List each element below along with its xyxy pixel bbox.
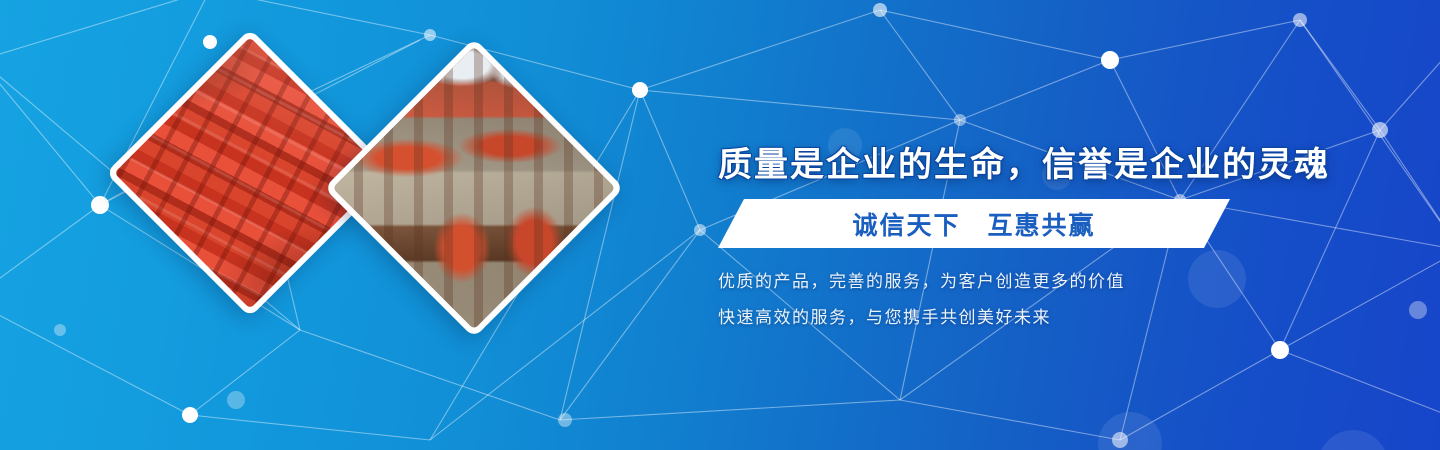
slogan-bar: 诚信天下 互惠共赢: [718, 199, 1230, 248]
banner-subline-2: 快速高效的服务，与您携手共创美好未来: [718, 303, 1051, 328]
promo-banner: 质量是企业的生命，信誉是企业的灵魂 诚信天下 互惠共赢 优质的产品，完善的服务，…: [0, 0, 1440, 450]
banner-headline: 质量是企业的生命，信誉是企业的灵魂: [718, 137, 1330, 186]
banner-subline-1: 优质的产品，完善的服务，为客户创造更多的价值: [718, 267, 1125, 292]
slogan-text: 诚信天下 互惠共赢: [852, 206, 1095, 242]
